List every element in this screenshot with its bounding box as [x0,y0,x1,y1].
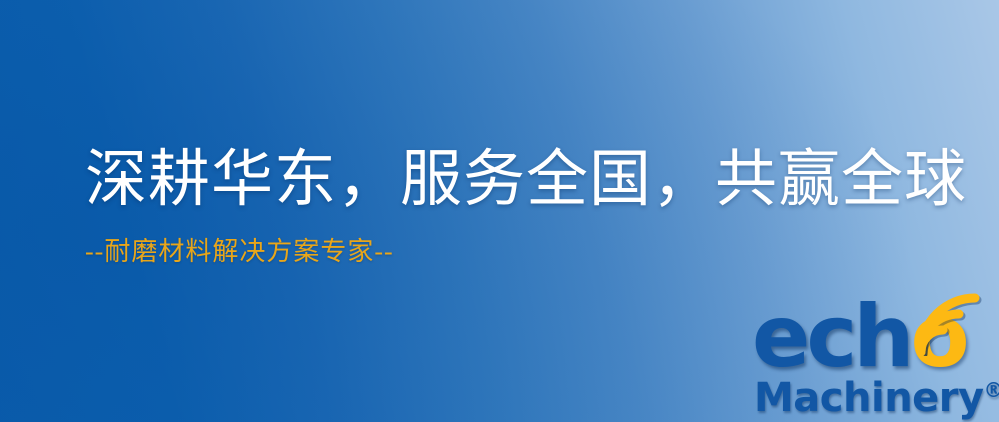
logo-subtext-label: Machinery [754,375,984,421]
signal-waves-icon [915,290,987,356]
registered-trademark-icon: ® [984,378,999,402]
promotional-banner: 深耕华东，服务全国，共赢全球 --耐磨材料解决方案专家-- echo Machi… [0,0,999,422]
echo-machinery-logo[interactable]: echo Machinery® [752,294,999,422]
banner-subtitle: --耐磨材料解决方案专家-- [85,238,967,267]
logo-subtext: Machinery® [754,368,999,420]
banner-text-block: 深耕华东，服务全国，共赢全球 --耐磨材料解决方案专家-- [85,148,967,266]
banner-headline: 深耕华东，服务全国，共赢全球 [85,148,967,214]
